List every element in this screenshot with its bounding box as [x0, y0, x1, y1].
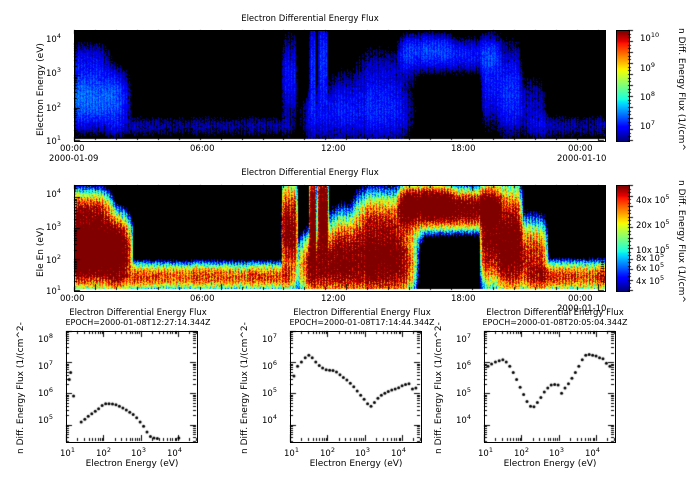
spectrum1-ylabel: n Diff. Energy Flux (1/(cm^2- [16, 322, 26, 454]
panel2-colorbar [616, 185, 630, 292]
spectrum1-epoch: EPOCH=2000-01-08T12:27:14.344Z [38, 318, 238, 327]
spectrum3-epoch: EPOCH=2000-01-08T20:05:04.344Z [455, 318, 655, 327]
panel2-xtick-4: 00:00 [568, 294, 593, 304]
panel1-ytick-3: 103 [46, 66, 61, 79]
spectrum2-ylabel-group: n Diff. Energy Flux (1/(cm^2- [230, 330, 242, 450]
panel2-cbtick-6: 6x 105 [636, 261, 664, 274]
spectrum2-ytick-6: 106 [262, 359, 277, 372]
panel1-ytick-4: 104 [46, 32, 61, 45]
panel1-cbtick-10: 1010 [640, 31, 659, 44]
spectrum3-ytick-5: 105 [456, 386, 471, 399]
spectrum3-ytick-4: 104 [456, 413, 471, 426]
spectrum2-ylabel: n Diff. Energy Flux (1/(cm^2- [240, 322, 250, 454]
panel1-cbtick-7: 107 [640, 119, 655, 132]
spectrum1-ytick-6: 106 [38, 386, 53, 399]
spectrum1-xlabel: Electron Energy (eV) [62, 459, 202, 469]
spectrum2-xtick-2: 102 [320, 446, 335, 459]
spectrum3-xtick-1: 101 [478, 446, 493, 459]
panel1-xtick-3: 18:00 [451, 144, 476, 154]
panel2-xtick-0: 00:00 [60, 294, 85, 304]
panel1-ytick-2: 102 [46, 101, 61, 114]
panel2-ylabel-group: Ele En (eV) [24, 185, 38, 290]
panel1-spectrogram-canvas [75, 31, 605, 141]
spectrum3-xtick-2: 102 [514, 446, 529, 459]
spectrum2-xtick-3: 103 [355, 446, 370, 459]
spectrum3-xlabel: Electron Energy (eV) [480, 459, 620, 469]
spectrum3-xtick-4: 104 [585, 446, 600, 459]
spectrum1-ytick-8: 108 [38, 332, 53, 345]
spectrum1-ylabel-group: n Diff. Energy Flux (1/(cm^2- [6, 330, 18, 450]
panel1-ylabel: Electron Energy (eV) [36, 43, 46, 136]
panel1-ytick-1: 101 [46, 134, 61, 147]
spectrum2-xtick-1: 101 [284, 446, 299, 459]
panel2-ylabel: Ele En (eV) [36, 227, 46, 277]
spectrum2-plot-frame [290, 331, 422, 443]
spectrum1-xtick-1: 101 [60, 446, 75, 459]
panel1-xtick-0: 00:00 [60, 144, 85, 154]
panel2-cbtick-20: 20x 105 [636, 218, 670, 231]
panel2-spectrogram-canvas [75, 186, 605, 291]
panel2-ytick-4: 104 [46, 187, 61, 200]
spectrum1-xtick-3: 103 [131, 446, 146, 459]
panel2-ytick-3: 103 [46, 220, 61, 233]
spectrum2-xlabel: Electron Energy (eV) [286, 459, 426, 469]
spectrum3-ytick-7: 107 [456, 332, 471, 345]
spectrum3-ylabel-group: n Diff. Energy Flux (1/(cm^2- [424, 330, 436, 450]
spectrum1-ytick-5: 105 [38, 413, 53, 426]
spectrum3-title: Electron Differential Energy Flux [455, 308, 655, 318]
panel2-ytick-2: 102 [46, 253, 61, 266]
panel1-cbtick-8: 108 [640, 90, 655, 103]
panel2-ytick-1: 101 [46, 284, 61, 297]
spectrum2-xtick-4: 104 [391, 446, 406, 459]
panel1-xtick-1: 06:00 [190, 144, 215, 154]
panel2-title: Electron Differential Energy Flux [0, 168, 620, 178]
spectrum3-canvas [485, 332, 615, 442]
spectrum3-xtick-3: 103 [549, 446, 564, 459]
spectrum1-canvas [67, 332, 197, 442]
panel1-colorbar-canvas [617, 31, 629, 141]
spectrum2-ytick-4: 104 [262, 413, 277, 426]
spectrum1-xtick-4: 104 [167, 446, 182, 459]
panel2-xtick-1: 06:00 [190, 294, 215, 304]
panel1-xtick-2: 12:00 [321, 144, 346, 154]
panel2-colorbar-label: n Diff. Energy Flux (1/(cm^ [676, 180, 686, 303]
panel2-plot-frame [74, 185, 606, 292]
panel1-title: Electron Differential Energy Flux [0, 14, 620, 24]
spectrum3-ylabel: n Diff. Energy Flux (1/(cm^2- [434, 322, 444, 454]
spectrum2-ytick-5: 105 [262, 386, 277, 399]
spectrum1-xtick-2: 102 [96, 446, 111, 459]
spectrum3-ytick-6: 106 [456, 359, 471, 372]
spectrum2-ytick-7: 107 [262, 332, 277, 345]
panel1-colorbar [616, 30, 630, 142]
spectrum1-ytick-7: 107 [38, 359, 53, 372]
spectrum2-title: Electron Differential Energy Flux [262, 308, 462, 318]
panel2-xtick-2: 12:00 [321, 294, 346, 304]
panel1-cbtick-9: 109 [640, 61, 655, 74]
panel1-xtick-4: 00:00 [568, 144, 593, 154]
spectrum1-title: Electron Differential Energy Flux [38, 308, 238, 318]
panel2-xtick-3: 18:00 [451, 294, 476, 304]
panel1-colorbar-label: n Diff. Energy Flux (1/(cm^ [676, 28, 686, 151]
spectrum2-canvas [291, 332, 421, 442]
spectrum2-epoch: EPOCH=2000-01-08T17:14:44.344Z [262, 318, 462, 327]
spectrum3-plot-frame [484, 331, 616, 443]
panel2-cbtick-40: 40x 105 [636, 193, 670, 206]
panel2-colorbar-canvas [617, 186, 629, 291]
panel1-ylabel-group: Electron Energy (eV) [24, 30, 38, 140]
panel2-cbtick-4: 4x 105 [636, 274, 664, 287]
panel1-xdate-right: 2000-01-10 [557, 154, 606, 164]
spectrum1-plot-frame [66, 331, 198, 443]
panel1-xdate-left: 2000-01-09 [49, 154, 98, 164]
panel1-plot-frame [74, 30, 606, 142]
